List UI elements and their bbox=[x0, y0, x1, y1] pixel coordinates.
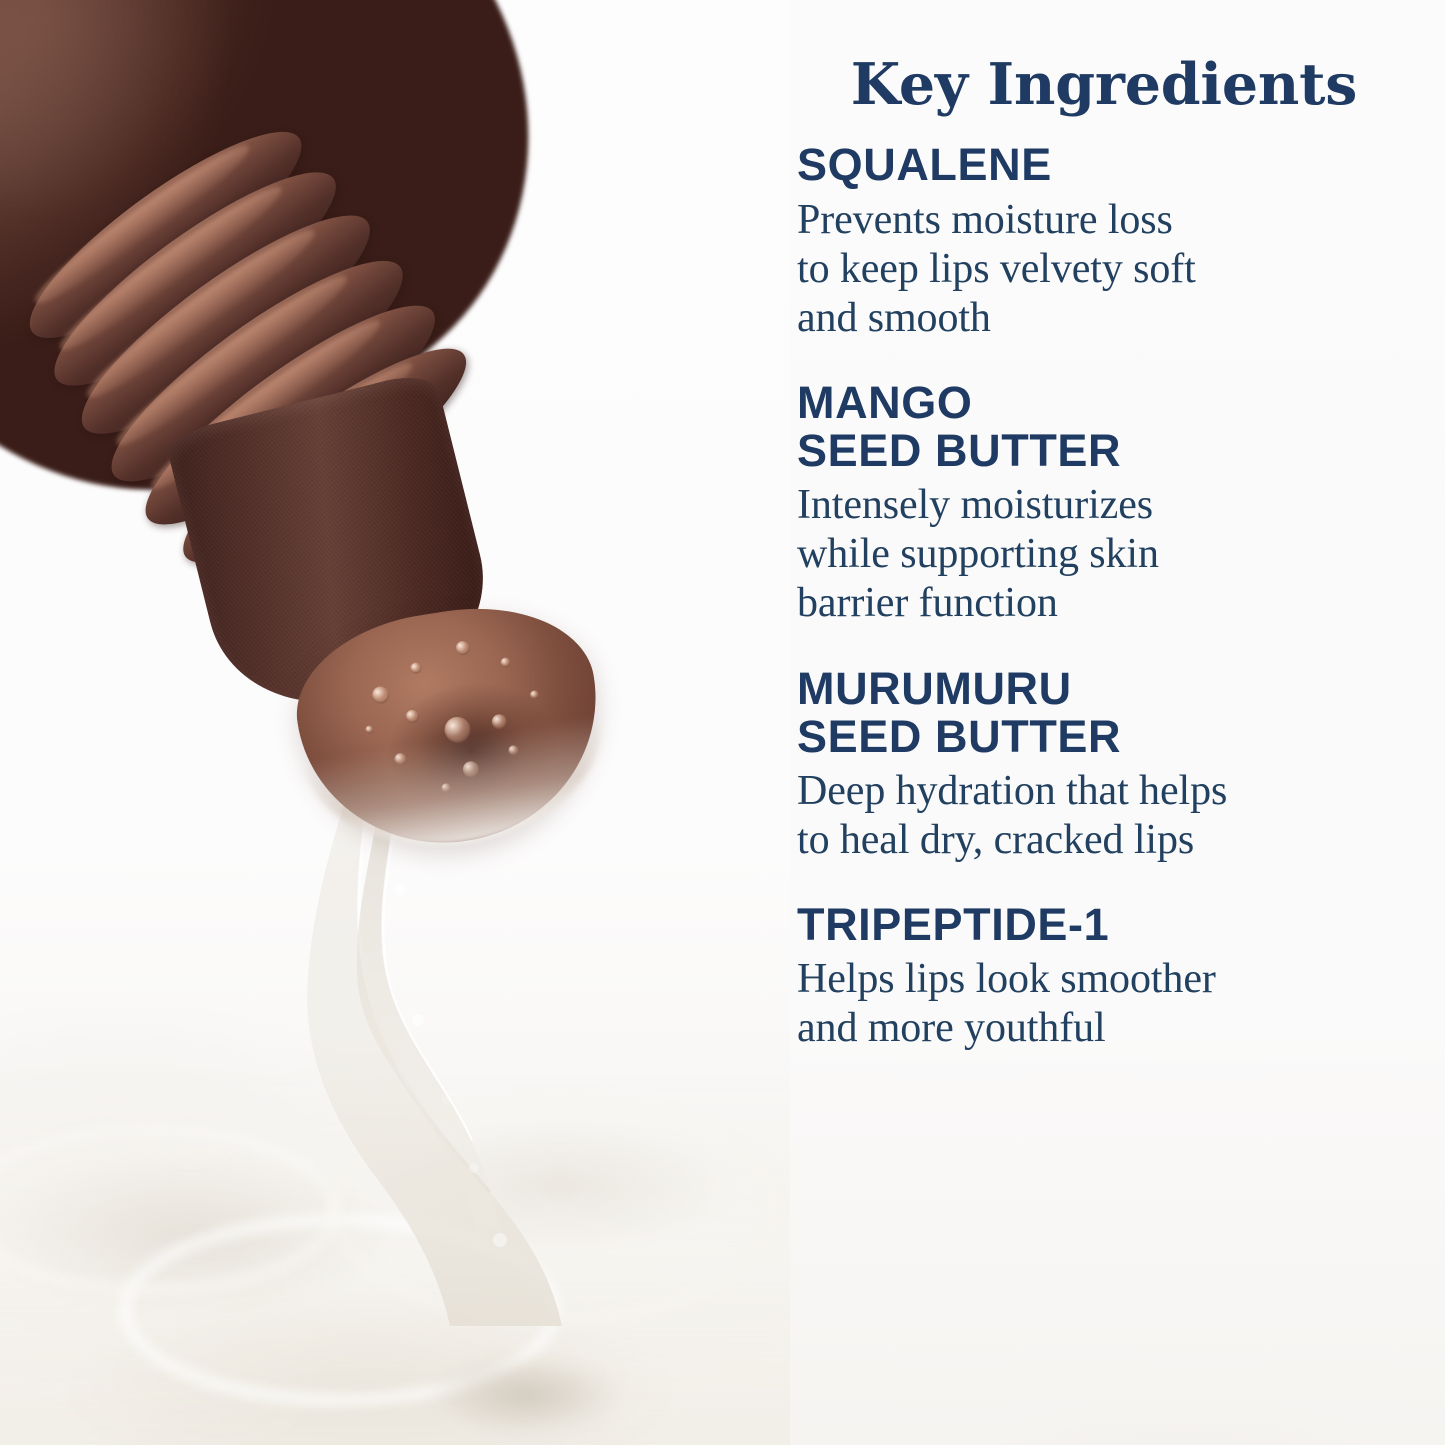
ingredient-block-tripeptide-1: TRIPEPTIDE-1 Helps lips look smoother an… bbox=[797, 901, 1411, 1053]
oil-strand bbox=[300, 800, 630, 1230]
ingredient-description: Deep hydration that helps to heal dry, c… bbox=[797, 767, 1411, 865]
page-title: Key Ingredients bbox=[797, 0, 1411, 115]
ingredient-name: SQUALENE bbox=[797, 141, 1411, 189]
ingredients-panel: Key Ingredients SQUALENE Prevents moistu… bbox=[790, 0, 1445, 1445]
key-ingredients-infographic: Key Ingredients SQUALENE Prevents moistu… bbox=[0, 0, 1445, 1445]
ingredient-description: Helps lips look smoother and more youthf… bbox=[797, 955, 1411, 1053]
oil-pool-shadow bbox=[430, 1355, 620, 1435]
ingredient-block-squalene: SQUALENE Prevents moisture loss to keep … bbox=[797, 141, 1411, 343]
ingredient-block-murumuru-seed-butter: MURUMURU SEED BUTTER Deep hydration that… bbox=[797, 665, 1411, 866]
ingredient-name: MURUMURU SEED BUTTER bbox=[797, 665, 1411, 761]
ingredient-name: TRIPEPTIDE-1 bbox=[797, 901, 1411, 949]
product-photo bbox=[0, 0, 790, 1445]
ingredient-description: Intensely moisturizes while supporting s… bbox=[797, 481, 1411, 628]
ingredient-description: Prevents moisture loss to keep lips velv… bbox=[797, 196, 1411, 343]
ingredient-block-mango-seed-butter: MANGO SEED BUTTER Intensely moisturizes … bbox=[797, 379, 1411, 629]
ingredient-name: MANGO SEED BUTTER bbox=[797, 379, 1411, 475]
